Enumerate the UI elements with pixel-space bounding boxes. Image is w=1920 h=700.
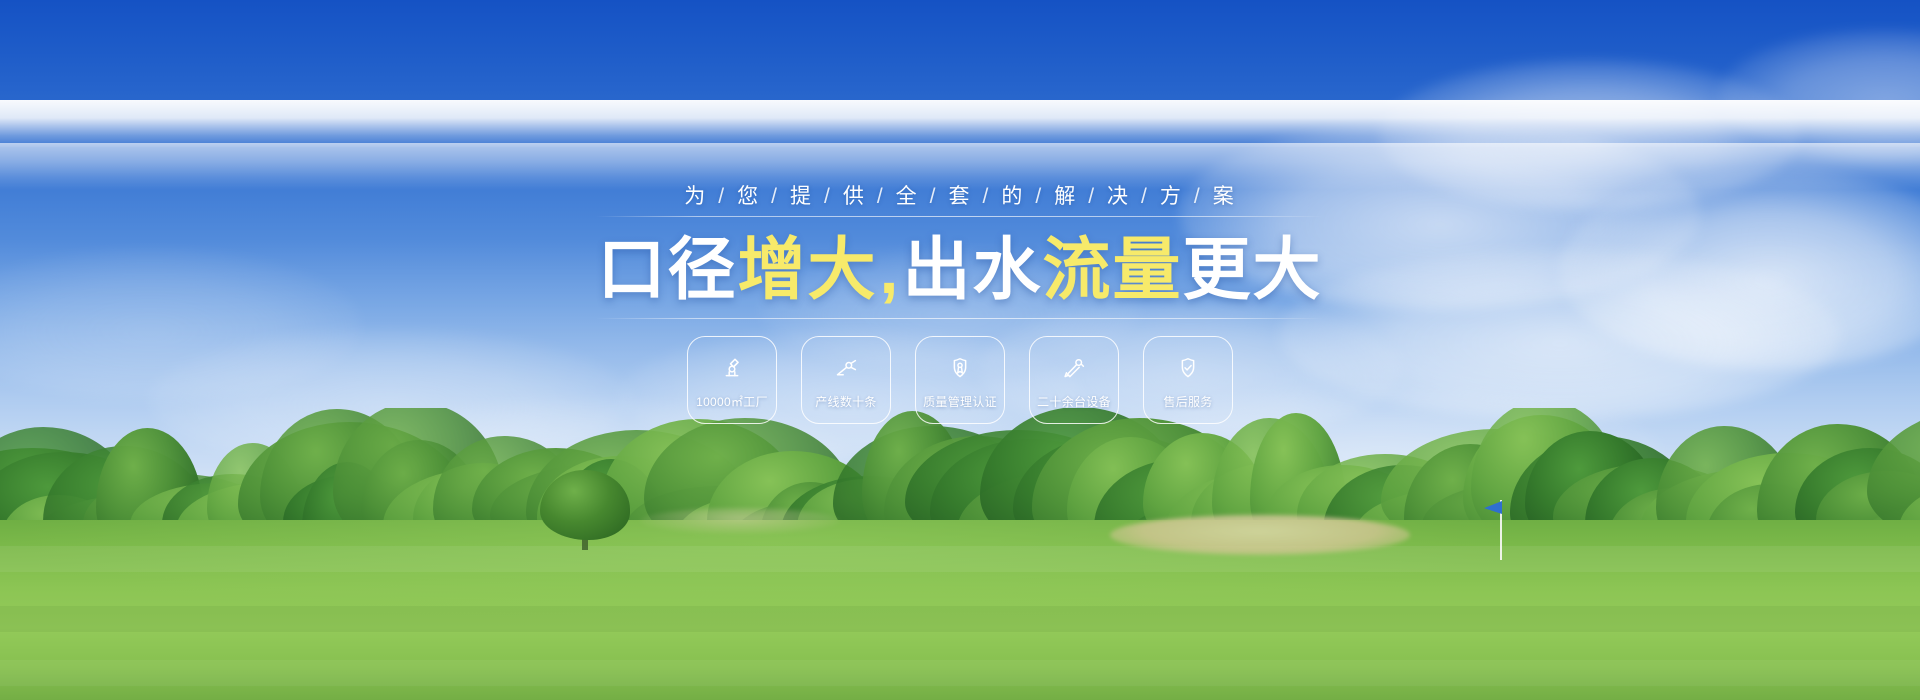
feature-badge-label: 质量管理认证 xyxy=(923,393,997,410)
mow-stripe xyxy=(0,606,1920,632)
tagline-char: 您 xyxy=(737,185,760,208)
feature-badge-label: 二十余台设备 xyxy=(1037,393,1111,410)
solitary-tree xyxy=(540,470,630,540)
feature-badge[interactable]: 产线数十条 xyxy=(801,336,891,424)
tagline-char: 的 xyxy=(1001,185,1024,208)
tagline-separator: / xyxy=(1194,185,1202,208)
tagline-char: 全 xyxy=(896,185,919,208)
feature-badge-label: 售后服务 xyxy=(1163,393,1212,410)
sand-bunker xyxy=(640,508,840,534)
tagline-char: 提 xyxy=(790,185,813,208)
tagline-separator: / xyxy=(983,185,991,208)
mow-stripe xyxy=(0,660,1920,686)
feature-badge[interactable]: 售后服务 xyxy=(1143,336,1233,424)
tagline-char: 为 xyxy=(684,185,707,208)
headline-segment: 出水 xyxy=(902,232,1042,308)
feature-badge[interactable]: 质量管理认证 xyxy=(915,336,1005,424)
microscope-icon xyxy=(716,354,748,386)
feature-badge-label: 10000㎡工厂 xyxy=(696,393,768,410)
tagline-separator: / xyxy=(771,185,779,208)
headline: 口径增大,出水流量更大 xyxy=(0,231,1920,309)
feature-badge-row: 10000㎡工厂产线数十条质量管理认证二十余台设备售后服务 xyxy=(0,336,1920,424)
tagline-char: 套 xyxy=(949,185,972,208)
tagline-char: 案 xyxy=(1213,185,1236,208)
tagline-separator: / xyxy=(824,185,832,208)
headline-segment: 增大 xyxy=(738,232,878,308)
tagline-separator: / xyxy=(718,185,726,208)
tagline-separator: / xyxy=(1035,185,1043,208)
tagline-separator: / xyxy=(1088,185,1096,208)
lawn-foreground xyxy=(0,520,1920,700)
wrench-tool-icon xyxy=(1058,354,1090,386)
feature-badge[interactable]: 二十余台设备 xyxy=(1029,336,1119,424)
tagline-char: 方 xyxy=(1160,185,1183,208)
headline-segment: 更大 xyxy=(1182,232,1322,308)
tagline-char: 供 xyxy=(843,185,866,208)
divider-top xyxy=(596,216,1324,217)
feature-badge-label: 产线数十条 xyxy=(815,393,877,410)
headline-segment: , xyxy=(878,232,903,308)
tagline-separator: / xyxy=(877,185,885,208)
sand-bunker xyxy=(1110,515,1410,555)
production-line-icon xyxy=(830,354,862,386)
tagline-separator: / xyxy=(930,185,938,208)
hero-banner: INTEGRATED SEWAGE TREATMENT 为/您/提/供/全/套/… xyxy=(0,0,1920,700)
divider-bottom xyxy=(596,318,1324,319)
tagline-separator: / xyxy=(1141,185,1149,208)
headline-segment: 流量 xyxy=(1042,232,1182,308)
tagline: 为/您/提/供/全/套/的/解/决/方/案 xyxy=(0,180,1920,210)
headline-segment: 口径 xyxy=(598,232,738,308)
after-sales-shield-icon xyxy=(1172,354,1204,386)
tagline-char: 解 xyxy=(1054,185,1077,208)
tagline-char: 决 xyxy=(1107,185,1130,208)
certificate-shield-icon xyxy=(944,354,976,386)
feature-badge[interactable]: 10000㎡工厂 xyxy=(687,336,777,424)
mow-stripe xyxy=(0,546,1920,572)
